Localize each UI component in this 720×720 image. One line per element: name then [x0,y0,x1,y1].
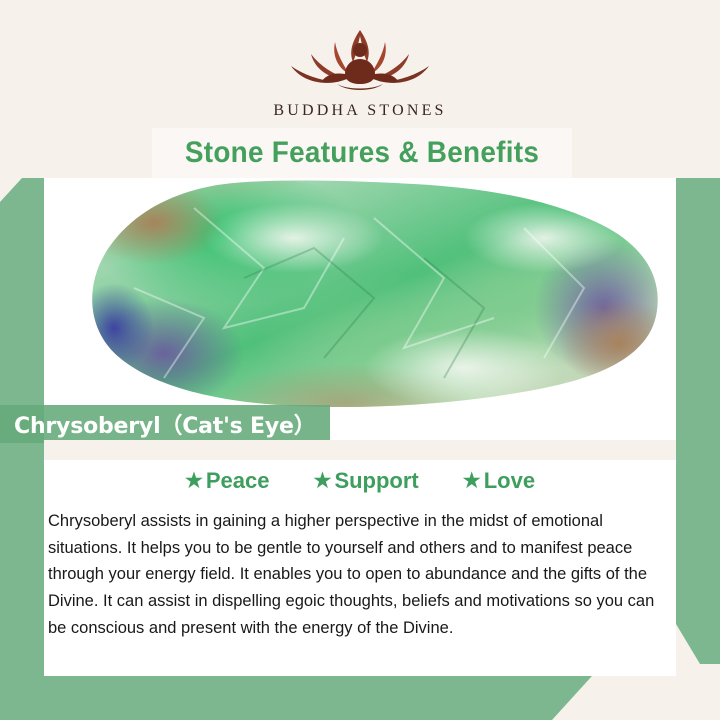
keyword-item-peace: ★ Peace [185,468,270,494]
lotus-meditation-icon [275,22,445,98]
frame-accent-left [0,178,44,720]
star-icon: ★ [463,471,481,491]
frame-accent-bottom [0,676,592,720]
keyword-label: Support [334,468,418,494]
title-banner: Stone Features & Benefits [152,128,572,178]
star-icon: ★ [314,471,332,491]
stone-description: Chrysoberyl assists in gaining a higher … [44,508,676,642]
star-icon: ★ [185,471,203,491]
page-title: Stone Features & Benefits [167,128,558,178]
keyword-label: Peace [206,468,270,494]
stone-photo-container [44,178,676,440]
keyword-item-support: ★ Support [314,468,419,494]
brand-name: BUDDHA STONES [0,102,720,120]
keyword-list: ★ Peace ★ Support ★ Love [44,460,676,494]
brand-logo: BUDDHA STONES [0,22,720,120]
content-section: ★ Peace ★ Support ★ Love Chrysoberyl ass… [44,460,676,676]
cream-divider-strip [44,440,676,460]
stone-name-band: Chrysoberyl（Cat's Eye） [0,405,330,443]
keyword-label: Love [484,468,535,494]
infographic-page: BUDDHA STONES Stone Features & Benefits [0,0,720,720]
stone-photo [44,178,676,440]
stone-name: Chrysoberyl（Cat's Eye） [0,408,316,440]
header-section: BUDDHA STONES Stone Features & Benefits [0,0,720,178]
keyword-item-love: ★ Love [463,468,535,494]
